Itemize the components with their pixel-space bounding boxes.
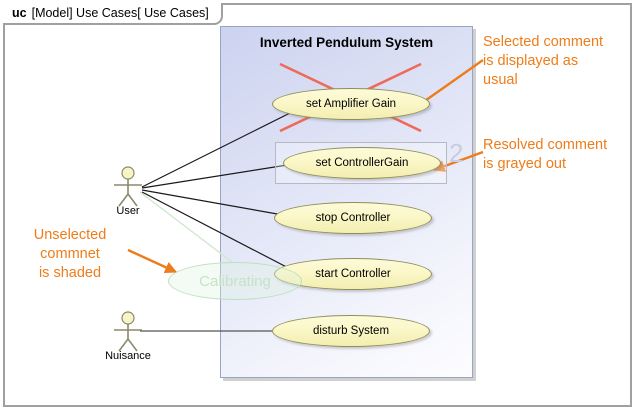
annotation-selected: Selected comment is displayed as usual	[483, 33, 633, 90]
usecase-stop-controller[interactable]: stop Controller	[274, 202, 432, 234]
annotation-unselected: Unselected commnet is shaded	[14, 226, 126, 283]
usecase-label: Calibrating	[199, 273, 271, 290]
actor-user-label: User	[98, 205, 158, 217]
usecase-label: disturb System	[313, 325, 389, 337]
usecase-label: start Controller	[315, 268, 390, 280]
diagram-title-label: [Model] Use Cases[ Use Cases]	[32, 6, 209, 20]
usecase-disturb-system[interactable]: disturb System	[272, 315, 430, 347]
usecase-calibrating-shaded[interactable]: Calibrating	[168, 262, 302, 300]
diagram-kind-label: uc	[12, 6, 27, 20]
usecase-label: stop Controller	[316, 212, 391, 224]
system-boundary-title: Inverted Pendulum System	[221, 35, 472, 50]
usecase-set-controller-gain[interactable]: set ControllerGain	[283, 147, 441, 179]
actor-nuisance-label: Nuisance	[95, 350, 161, 362]
diagram-canvas: Inverted Pendulum System	[0, 0, 636, 411]
usecase-label: set ControllerGain	[316, 157, 409, 169]
usecase-set-amplifier-gain[interactable]: set Amplifier Gain	[272, 88, 430, 120]
diagram-frame-tab[interactable]: uc [Model] Use Cases[ Use Cases]	[3, 3, 223, 25]
usecase-label: set Amplifier Gain	[306, 98, 396, 110]
annotation-resolved: Resolved comment is grayed out	[483, 136, 635, 174]
resolved-comment-count: 2	[449, 140, 463, 166]
